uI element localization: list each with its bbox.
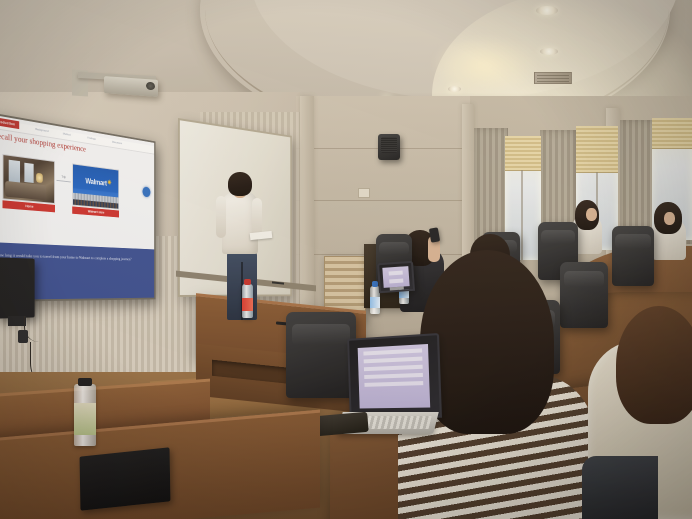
walmart-photo: Walmart ✷ [72,163,119,209]
downlight-icon [536,6,558,15]
trip-arrow: Trip [57,174,71,182]
trip-label: Trip [57,174,71,179]
attendee-2-lap [582,456,658,519]
attendee-2-hair [616,306,692,424]
conference-chair[interactable] [286,312,356,398]
conference-chair[interactable] [560,262,608,328]
slide-bullet-dot [143,186,151,197]
presenter-arm-left [216,196,226,238]
wall-speaker-icon [378,134,400,160]
laptop[interactable] [377,261,415,293]
black-folder[interactable] [80,447,171,510]
window-blind [505,136,541,171]
presenter-hair [228,172,252,196]
seminar-room-photo: Introduction Background Method Findings … [0,0,692,519]
ceiling-light-glow [430,35,540,95]
window-blind [576,126,618,173]
water-bottle [242,284,253,318]
conference-chair[interactable] [612,226,654,286]
projector-lens-icon [146,82,155,91]
downlight-icon [448,86,461,92]
power-plug-icon [18,330,28,343]
window-blind [652,118,692,149]
home-photo [3,154,55,204]
attendee-6-face [664,212,675,225]
wall-plate [358,188,370,198]
downlight-icon [540,48,558,55]
attendee-5-face [586,208,597,221]
green-tea-bottle [74,384,96,446]
wall-monitor [0,257,35,318]
walmart-spark-icon: ✷ [107,179,112,188]
green-tea-label [74,403,96,435]
air-vent-icon [534,72,572,84]
laptop[interactable] [347,333,442,418]
